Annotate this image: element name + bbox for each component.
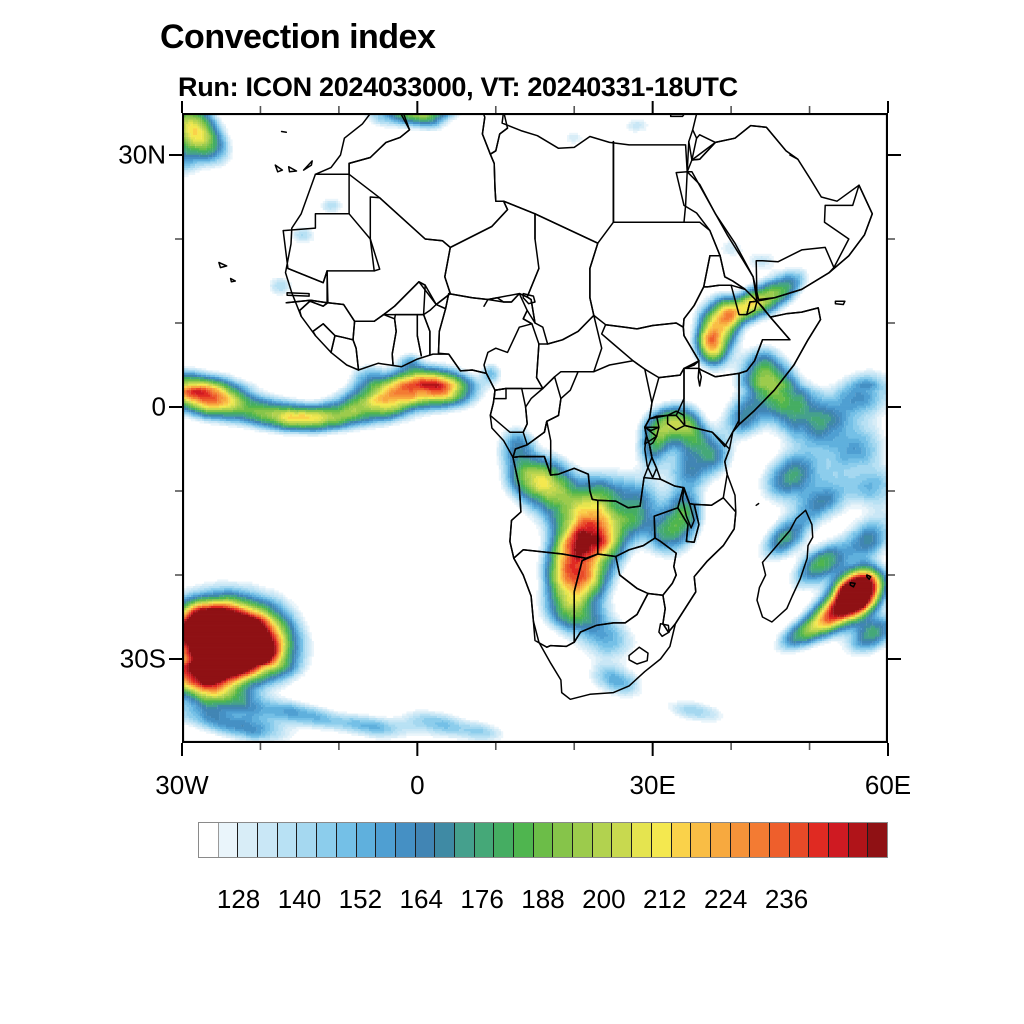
colorbar-cell — [809, 823, 829, 857]
colorbar-cell — [750, 823, 770, 857]
colorbar-tick-label: 176 — [460, 884, 503, 915]
colorbar-cell — [652, 823, 672, 857]
colorbar-cell — [849, 823, 869, 857]
colorbar-cell — [534, 823, 554, 857]
colorbar-tick-labels: 128140152164176188200212224236 — [198, 884, 888, 918]
page-title: Convection index — [160, 18, 435, 57]
colorbar-tick-label: 200 — [582, 884, 625, 915]
y-axis-tick-label: 0 — [152, 392, 166, 423]
colorbar-cell — [258, 823, 278, 857]
colorbar-cells — [198, 822, 888, 858]
colorbar-cell — [455, 823, 475, 857]
colorbar-cell — [770, 823, 790, 857]
colorbar-cell — [396, 823, 416, 857]
colorbar-cell — [790, 823, 810, 857]
colorbar-cell — [317, 823, 337, 857]
colorbar-cell — [435, 823, 455, 857]
colorbar-cell — [494, 823, 514, 857]
colorbar-cell — [278, 823, 298, 857]
colorbar-cell — [573, 823, 593, 857]
colorbar-cell — [219, 823, 239, 857]
colorbar-cell — [238, 823, 258, 857]
colorbar-cell — [416, 823, 436, 857]
colorbar-cell — [868, 823, 887, 857]
colorbar-tick-label: 212 — [643, 884, 686, 915]
colorbar-cell — [337, 823, 357, 857]
colorbar-tick-label: 140 — [278, 884, 321, 915]
colorbar-tick-label: 188 — [521, 884, 564, 915]
x-axis-tick-label: 60E — [865, 770, 911, 801]
colorbar-tick-label: 224 — [704, 884, 747, 915]
colorbar-cell — [593, 823, 613, 857]
y-axis-tick-label: 30S — [120, 644, 166, 675]
map-panel — [182, 113, 888, 743]
colorbar — [198, 822, 888, 858]
colorbar-tick-label: 236 — [765, 884, 808, 915]
colorbar-tick-label: 128 — [217, 884, 260, 915]
x-axis-tick-label: 30W — [155, 770, 208, 801]
colorbar-cell — [672, 823, 692, 857]
x-axis-tick-label: 30E — [630, 770, 676, 801]
page-subtitle: Run: ICON 2024033000, VT: 20240331-18UTC — [178, 72, 738, 103]
colorbar-cell — [514, 823, 534, 857]
colorbar-cell — [691, 823, 711, 857]
colorbar-tick-label: 164 — [400, 884, 443, 915]
convection-map — [182, 113, 888, 743]
colorbar-cell — [632, 823, 652, 857]
colorbar-cell — [475, 823, 495, 857]
colorbar-cell — [553, 823, 573, 857]
x-axis-tick-label: 0 — [410, 770, 424, 801]
colorbar-cell — [199, 823, 219, 857]
colorbar-tick-label: 152 — [339, 884, 382, 915]
colorbar-cell — [829, 823, 849, 857]
colorbar-cell — [612, 823, 632, 857]
colorbar-cell — [297, 823, 317, 857]
coastline-madeira — [282, 132, 287, 133]
colorbar-cell — [711, 823, 731, 857]
colorbar-cell — [731, 823, 751, 857]
colorbar-cell — [376, 823, 396, 857]
figure-root: Convection index Run: ICON 2024033000, V… — [0, 0, 1024, 1024]
colorbar-cell — [357, 823, 377, 857]
y-axis-tick-label: 30N — [118, 140, 166, 171]
